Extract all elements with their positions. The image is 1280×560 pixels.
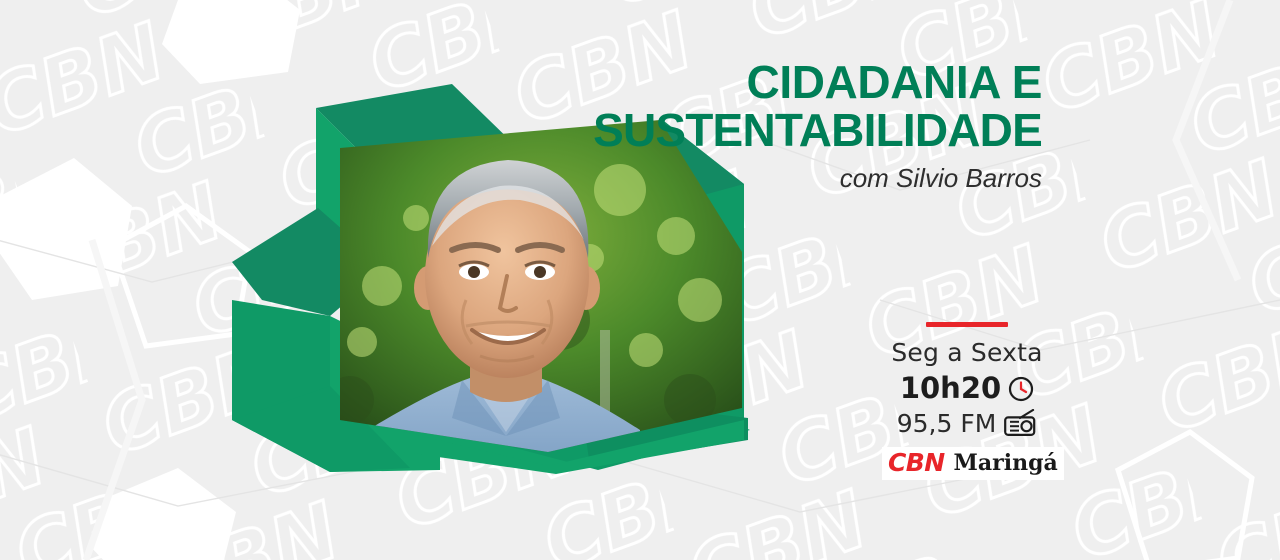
program-title-block: CIDADANIA E SUSTENTABILIDADE com Silvio … [422,58,1042,193]
radio-program-banner: CBN CBN [0,0,1280,560]
schedule-days: Seg a Sexta [882,339,1052,367]
schedule-frequency: 95,5 FM [897,410,997,437]
cbn-logo-city: Maringá [954,450,1058,476]
schedule-time: 10h20 [900,373,1001,404]
cbn-maringa-logo[interactable]: CBN Maringá [882,447,1064,480]
clock-icon [1008,376,1034,402]
schedule-frequency-row: 95,5 FM [882,409,1052,437]
schedule-divider [926,322,1008,327]
radio-icon [1003,409,1037,437]
schedule-time-row: 10h20 [882,373,1052,404]
program-host-subtitle: com Silvio Barros [422,163,1042,193]
program-title-line-1: CIDADANIA E [422,58,1042,106]
cbn-logo-text: CBN [888,450,945,476]
program-title-line-2: SUSTENTABILIDADE [422,106,1042,154]
schedule-block: Seg a Sexta 10h20 95,5 FM CBN Maringá [882,322,1052,480]
